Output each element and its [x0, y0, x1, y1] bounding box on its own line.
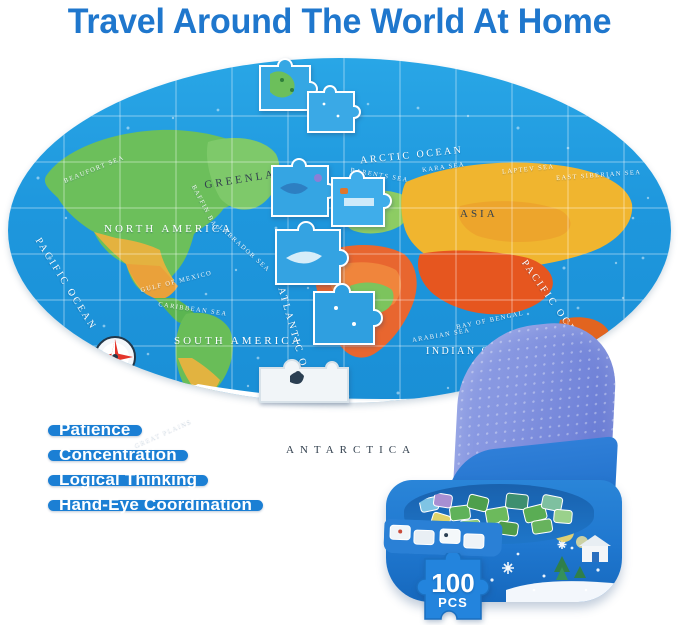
piece-count-badge: 100 PCS	[411, 553, 495, 625]
piece-count-number: 100	[411, 571, 495, 595]
piece-count-unit: PCS	[411, 595, 495, 610]
benefit-badge-concentration[interactable]: Concentration	[48, 450, 188, 461]
compass-rose-icon	[94, 336, 136, 378]
benefit-row-4: Hand-Eye Coordination	[48, 500, 263, 525]
loose-puzzle-piece-6[interactable]	[308, 280, 386, 350]
benefits-list: Patience Concentration Logical Thinking …	[48, 425, 263, 525]
tin-front-clasp[interactable]	[383, 519, 502, 557]
puzzle-tin-box[interactable]: 100 PCS	[378, 325, 638, 615]
benefit-badge-patience[interactable]: Patience	[48, 425, 142, 436]
benefit-badge-hand-eye-coordination[interactable]: Hand-Eye Coordination	[48, 500, 263, 511]
loose-puzzle-piece-7[interactable]	[256, 358, 352, 414]
clasp-artwork-icon	[383, 519, 502, 557]
loose-puzzle-piece-2[interactable]	[304, 84, 366, 138]
page-title: Travel Around The World At Home	[10, 2, 669, 42]
benefit-badge-logical-thinking[interactable]: Logical Thinking	[48, 475, 208, 486]
product-image: Travel Around The World At Home	[0, 0, 679, 625]
